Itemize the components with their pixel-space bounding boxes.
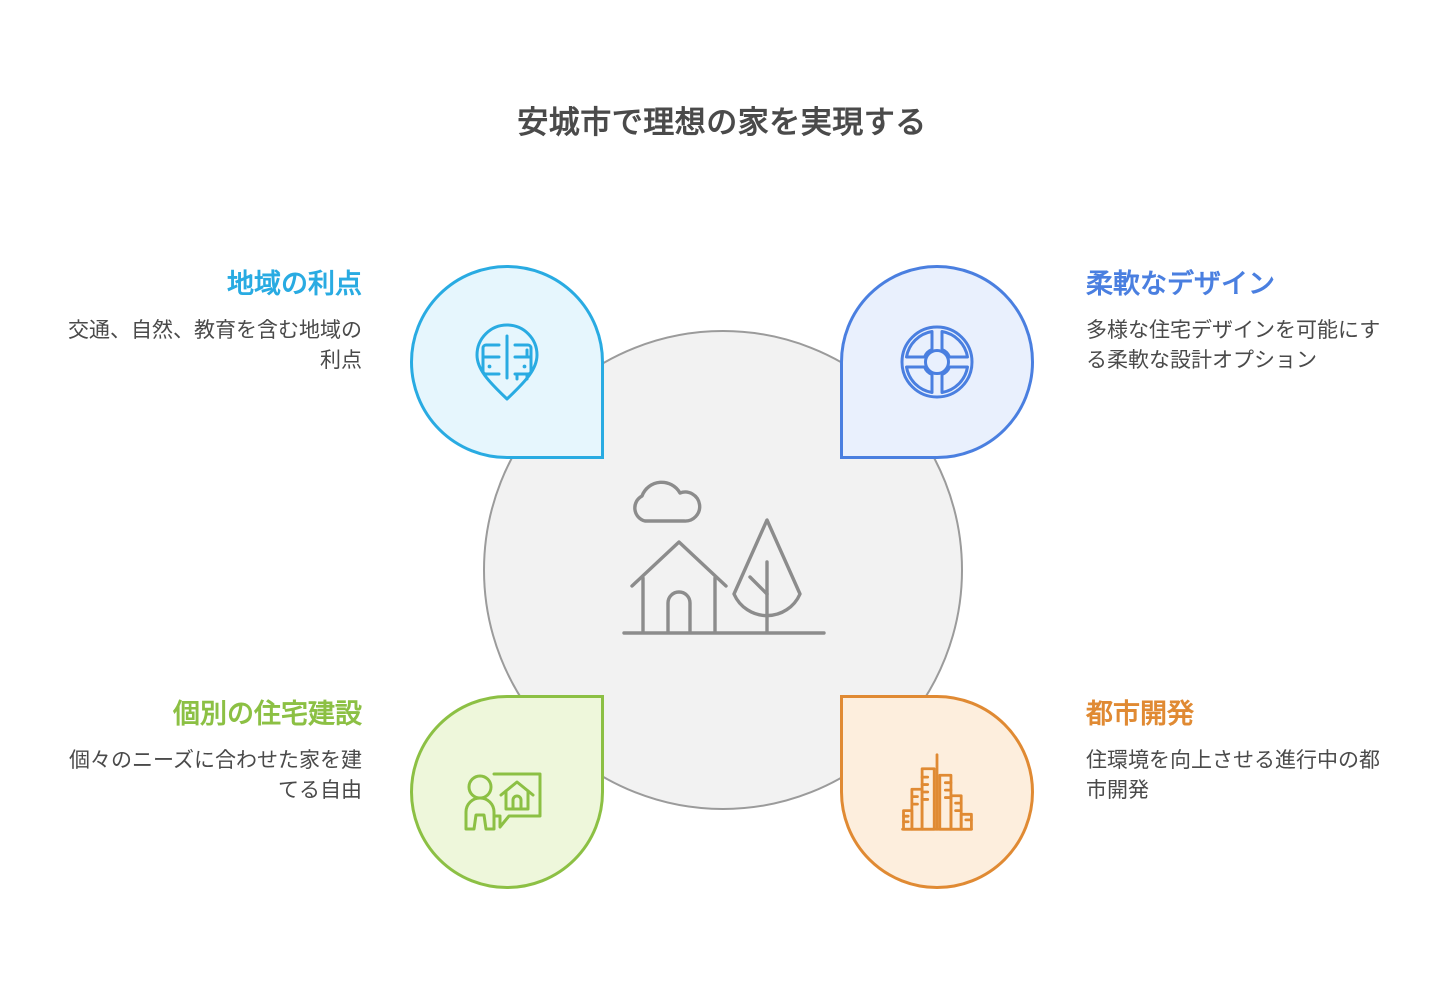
feature-text-local-benefits: 地域の利点 交通、自然、教育を含む地域の利点 (52, 268, 362, 377)
feature-text-urban-development: 都市開発 住環境を向上させる進行中の都市開発 (1086, 698, 1396, 807)
feature-heading-urban-development: 都市開発 (1086, 698, 1396, 732)
feature-heading-local-benefits: 地域の利点 (52, 268, 362, 302)
feature-heading-custom-home-building: 個別の住宅建設 (52, 698, 362, 732)
wheel-hub-icon (894, 319, 980, 405)
badge-local-benefits[interactable] (410, 265, 604, 459)
map-pin-transit-icon (464, 319, 550, 405)
badge-urban-development[interactable] (840, 695, 1034, 889)
house-tree-cloud-illustration (598, 462, 848, 678)
feature-description-flexible-design: 多様な住宅デザインを可能にする柔軟な設計オプション (1086, 316, 1396, 377)
feature-text-flexible-design: 柔軟なデザイン 多様な住宅デザインを可能にする柔軟な設計オプション (1086, 268, 1396, 377)
feature-description-custom-home-building: 個々のニーズに合わせた家を建てる自由 (52, 746, 362, 807)
person-house-speech-bubble-icon (461, 749, 553, 835)
badge-custom-home-building[interactable] (410, 695, 604, 889)
feature-description-urban-development: 住環境を向上させる進行中の都市開発 (1086, 746, 1396, 807)
badge-flexible-design[interactable] (840, 265, 1034, 459)
city-skyline-icon (897, 747, 977, 837)
feature-heading-flexible-design: 柔軟なデザイン (1086, 268, 1396, 302)
feature-text-custom-home-building: 個別の住宅建設 個々のニーズに合わせた家を建てる自由 (52, 698, 362, 807)
page-title: 安城市で理想の家を実現する (0, 97, 1444, 142)
feature-description-local-benefits: 交通、自然、教育を含む地域の利点 (52, 316, 362, 377)
